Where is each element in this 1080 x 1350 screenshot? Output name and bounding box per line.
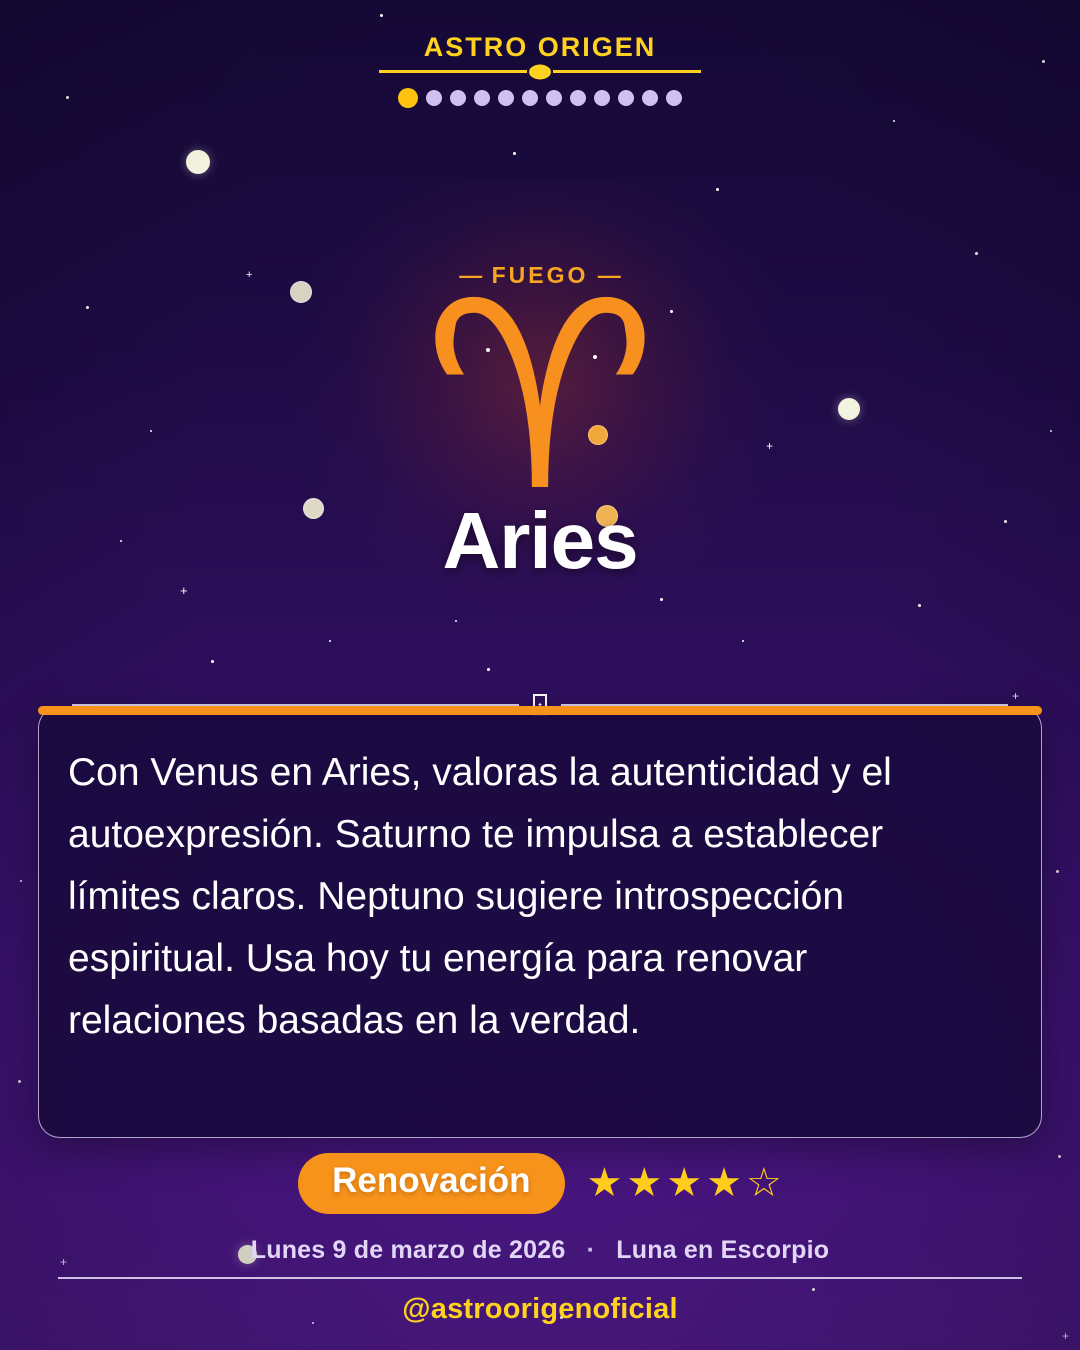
progress-dot (450, 90, 466, 106)
starfield: + + + + + + + (0, 0, 1080, 1350)
progress-dot-active (398, 88, 418, 108)
keyword-rating-row: Renovación ★★★★☆ (0, 1153, 1080, 1214)
progress-dot (522, 90, 538, 106)
progress-dot (594, 90, 610, 106)
footer-separator: · (573, 1236, 610, 1264)
progress-dot (642, 90, 658, 106)
progress-dot (474, 90, 490, 106)
star-large (186, 150, 210, 174)
star-rating: ★★★★☆ (587, 1163, 782, 1203)
reading-text: Con Venus en Aries, valoras la autentici… (68, 742, 992, 1052)
brand-underline-knob-icon (529, 64, 551, 79)
footer-moon-phase: Luna en Escorpio (616, 1236, 829, 1264)
progress-dot (498, 90, 514, 106)
star-empty-icon: ☆ (746, 1163, 782, 1203)
progress-dot (570, 90, 586, 106)
star-filled-icon: ★ (666, 1163, 702, 1203)
footer-meta: Lunes 9 de marzo de 2026 · Luna en Escor… (0, 1236, 1080, 1265)
social-handle: @astroorigenoficial (0, 1293, 1080, 1326)
star-filled-icon: ★ (626, 1163, 662, 1203)
footer-divider (58, 1277, 1022, 1279)
vignette (0, 0, 1080, 1350)
progress-dots (0, 88, 1080, 108)
progress-dot (618, 90, 634, 106)
progress-dot (546, 90, 562, 106)
star-filled-icon: ★ (587, 1163, 623, 1203)
reading-card-accent-bar (38, 706, 1042, 715)
aries-zodiac-icon: ♈ (0, 268, 1080, 528)
progress-dot (666, 90, 682, 106)
star-filled-icon: ★ (706, 1163, 742, 1203)
progress-dot (426, 90, 442, 106)
poster-header: ASTRO ORIGEN (0, 34, 1080, 108)
horoscope-poster: + + + + + + + ASTRO ORIGEN — FUEGO — ♈ A… (0, 0, 1080, 1350)
keyword-badge: Renovación (298, 1153, 564, 1214)
footer-date: Lunes 9 de marzo de 2026 (251, 1236, 566, 1264)
brand-underline (379, 70, 701, 73)
brand-title: ASTRO ORIGEN (424, 34, 657, 61)
sign-name: Aries (0, 495, 1080, 587)
